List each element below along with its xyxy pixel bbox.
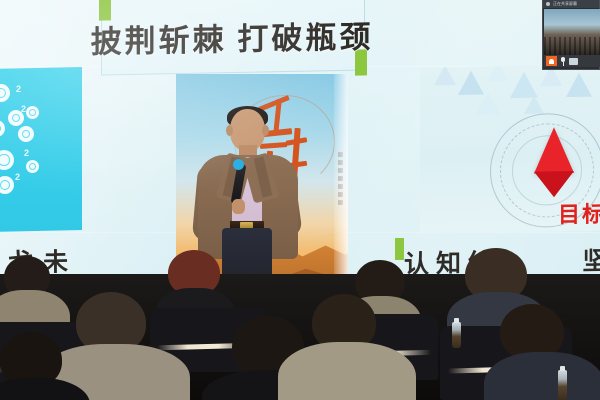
headline-banner-text: 披荆斩棘 打破瓶颈	[101, 7, 363, 64]
speaker-ear-right	[262, 125, 269, 136]
flask-icon	[26, 160, 39, 173]
chat-icon	[18, 126, 34, 142]
origami-triangle	[566, 73, 592, 97]
right-slogan-accent	[395, 238, 404, 260]
right-graphic-panel: 目标	[420, 64, 600, 233]
slide-right-edge	[334, 74, 348, 302]
microphone-icon[interactable]	[560, 57, 566, 66]
gear-icon	[0, 84, 10, 102]
person-run-icon	[0, 176, 14, 194]
decor-number: 2	[16, 84, 21, 94]
water-bottle	[452, 322, 461, 348]
video-feed	[544, 9, 600, 55]
audience-shoulders	[278, 342, 416, 400]
settings-icon[interactable]	[569, 58, 578, 65]
origami-triangle	[458, 71, 484, 95]
globe-icon	[0, 150, 14, 170]
decor-number: 2	[24, 148, 29, 158]
share-screen-icon	[546, 2, 550, 6]
origami-triangle	[434, 65, 456, 85]
video-panel-toolbar[interactable]	[544, 55, 600, 67]
origami-triangle	[524, 95, 544, 113]
decor-number: 2	[15, 172, 20, 182]
video-panel-header: 正在共享屏幕	[543, 0, 599, 8]
speaker-ear-left	[226, 125, 233, 136]
red-gem-lower-icon	[534, 171, 574, 198]
person-icon[interactable]	[546, 56, 557, 66]
origami-triangle	[476, 92, 500, 114]
water-bottle	[558, 370, 567, 400]
audience-shoulders	[484, 352, 600, 400]
decor-number: 2	[21, 104, 26, 114]
origami-triangle	[510, 72, 538, 98]
conference-photo: 披荆斩棘 打破瓶颈 2 2 2 2 戈未	[0, 0, 600, 400]
brush-icon	[26, 106, 39, 119]
video-panel-header-text: 正在共享屏幕	[553, 1, 577, 7]
left-panel-icon-cluster: 2 2 2 2	[0, 78, 58, 228]
speaker-hand	[232, 199, 245, 214]
red-gem-icon	[534, 127, 574, 174]
audience-foreground	[0, 274, 600, 400]
right-slogan-part-two: 坚定	[583, 248, 600, 276]
hand-icon	[0, 120, 5, 137]
origami-triangle	[488, 64, 508, 81]
right-panel-red-text: 目标	[558, 196, 600, 229]
video-conference-panel[interactable]: 正在共享屏幕	[542, 0, 600, 70]
